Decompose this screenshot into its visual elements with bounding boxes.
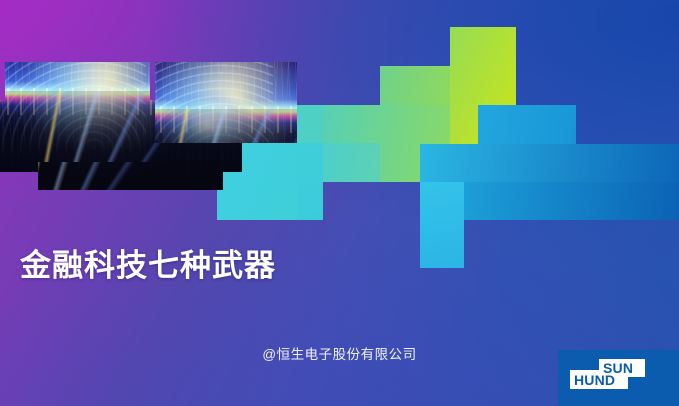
tile-cyan-tall — [420, 182, 464, 268]
photo-tunnel-right — [155, 62, 297, 143]
tile-lime — [450, 27, 516, 105]
tile-blue-right-upper — [478, 105, 576, 144]
page-title: 金融科技七种武器 — [20, 249, 276, 284]
tile-teal-mid — [323, 143, 380, 182]
brand-logo-panel: SUN HUND — [558, 350, 679, 406]
tile-lime-lower — [450, 105, 478, 144]
tile-blue-right-wide — [420, 144, 679, 182]
logo-text-hund: HUND — [574, 372, 615, 388]
tile-green-upper — [380, 66, 450, 105]
tile-blue-right-wide2 — [464, 182, 679, 220]
presentation-slide: 金融科技七种武器 @恒生电子股份有限公司 SUN HUND — [0, 0, 679, 406]
photo-tunnel-tail — [38, 162, 223, 220]
tile-cyan-foot — [297, 143, 323, 220]
